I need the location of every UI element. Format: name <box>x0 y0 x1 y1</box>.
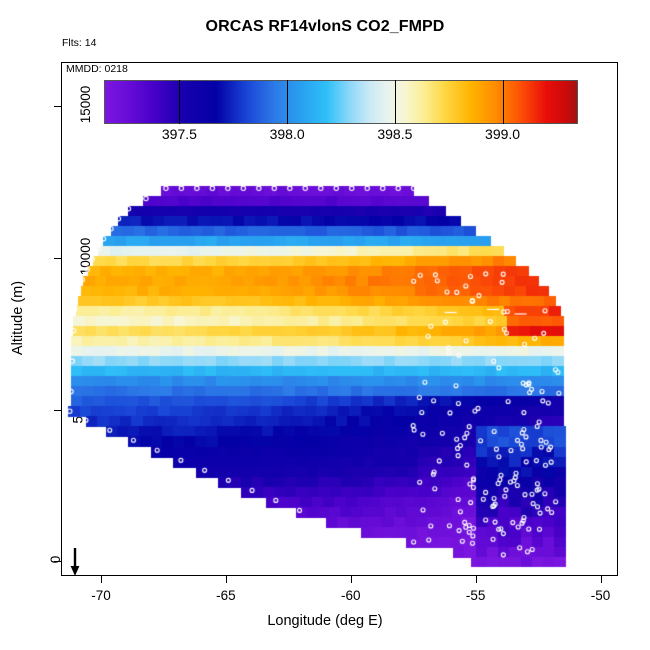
colorbar[interactable]: 397.5398.0398.5399.0 <box>104 80 578 124</box>
plot-window: ORCAS RF14vlonS CO2_FMPD Flts: 14 MMDD: … <box>0 0 650 650</box>
x-axis-tick-label: -70 <box>91 588 111 603</box>
colorbar-tick-label: 398.0 <box>270 126 305 142</box>
x-axis-tick <box>226 576 227 583</box>
x-axis-tick-label: -60 <box>341 588 361 603</box>
colorbar-tick <box>395 80 396 124</box>
y-axis-tick <box>54 106 61 107</box>
colorbar-tick <box>287 80 288 124</box>
heatmap-canvas <box>62 63 617 575</box>
x-axis-tick-label: -55 <box>466 588 486 603</box>
x-axis-tick <box>476 576 477 583</box>
x-axis-tick <box>101 576 102 583</box>
y-axis-tick-label: 0 <box>48 556 63 564</box>
colorbar-tick <box>503 80 504 124</box>
x-axis-tick <box>351 576 352 583</box>
y-axis-tick <box>54 258 61 259</box>
x-axis-title: Longitude (deg E) <box>0 613 650 629</box>
date-annotation: MMDD: 0218 <box>66 63 128 75</box>
colorbar-tick-label: 397.5 <box>162 126 197 142</box>
x-axis-tick-label: -65 <box>216 588 236 603</box>
y-axis-tick <box>54 410 61 411</box>
x-axis-tick <box>601 576 602 583</box>
x-axis-tick-label: -50 <box>591 588 611 603</box>
colorbar-tick-label: 398.5 <box>377 126 412 142</box>
colorbar-tick <box>179 80 180 124</box>
colorbar-gradient <box>104 80 578 124</box>
y-axis-title: Altitude (m) <box>10 218 26 418</box>
colorbar-tick-label: 399.0 <box>485 126 520 142</box>
